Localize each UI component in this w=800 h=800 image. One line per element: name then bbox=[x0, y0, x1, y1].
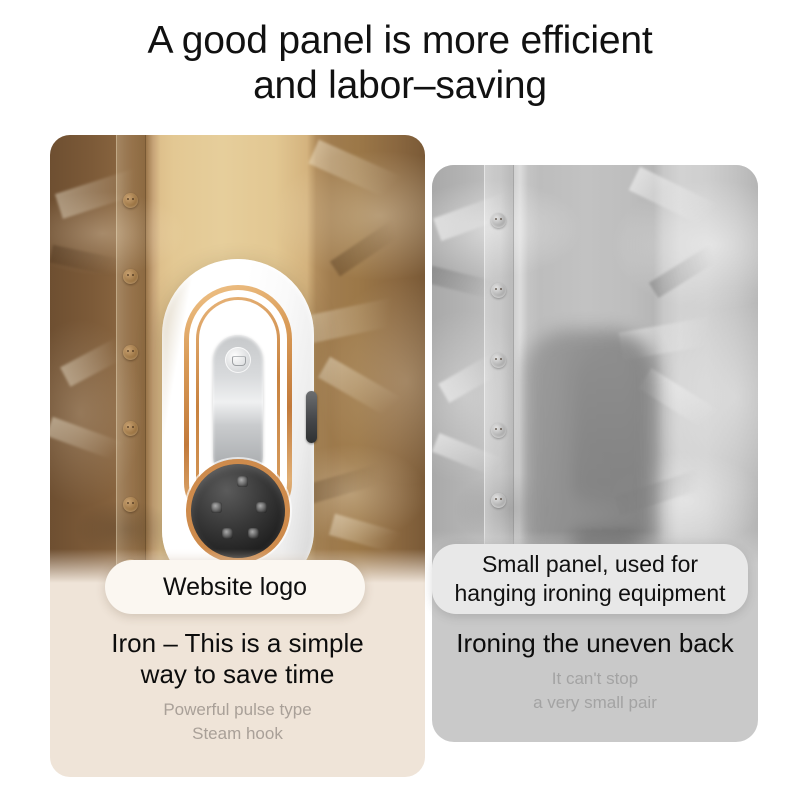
shirt-placket bbox=[484, 165, 514, 565]
shirt-button-icon bbox=[123, 497, 138, 512]
right-card-subtitle: It can't stop a very small pair bbox=[432, 667, 758, 715]
shirt-placket bbox=[116, 135, 146, 583]
right-card-text-block: Ironing the uneven back It can't stop a … bbox=[432, 628, 758, 715]
left-card-title: Iron – This is a simple way to save time bbox=[50, 628, 425, 690]
right-card-note-line-2: hanging ironing equipment bbox=[454, 579, 725, 608]
left-product-photo bbox=[50, 135, 425, 583]
shirt-button-icon bbox=[123, 269, 138, 284]
shirt-button-icon bbox=[491, 423, 506, 438]
left-card-subtitle-line-1: Powerful pulse type bbox=[50, 698, 425, 722]
garment-steamer-device bbox=[162, 259, 314, 583]
right-card-subtitle-line-2: a very small pair bbox=[432, 691, 758, 715]
right-card-note-line-1: Small panel, used for bbox=[454, 550, 725, 579]
left-product-card[interactable]: Iron – This is a simple way to save time… bbox=[50, 135, 425, 777]
steam-hole-icon bbox=[248, 528, 259, 539]
shirt-button-icon bbox=[123, 421, 138, 436]
website-logo-badge[interactable]: Website logo bbox=[105, 560, 365, 614]
left-card-subtitle: Powerful pulse type Steam hook bbox=[50, 698, 425, 746]
shirt-button-icon bbox=[491, 493, 506, 508]
right-product-card[interactable]: Ironing the uneven back It can't stop a … bbox=[432, 165, 758, 742]
left-card-subtitle-line-2: Steam hook bbox=[50, 722, 425, 746]
blurred-steamer-device bbox=[520, 330, 670, 565]
shirt-button-icon bbox=[123, 345, 138, 360]
steam-hole-icon bbox=[222, 528, 233, 539]
steamer-soleplate bbox=[186, 459, 290, 563]
left-card-title-line-1: Iron – This is a simple bbox=[50, 628, 425, 659]
right-card-title: Ironing the uneven back bbox=[432, 628, 758, 659]
website-logo-badge-label: Website logo bbox=[163, 573, 307, 602]
steamer-side-button bbox=[306, 391, 317, 443]
steam-button-icon bbox=[225, 347, 251, 373]
product-comparison-page: A good panel is more efficient and labor… bbox=[0, 0, 800, 800]
right-card-note-badge[interactable]: Small panel, used for hanging ironing eq… bbox=[432, 544, 748, 614]
shirt-button-icon bbox=[491, 213, 506, 228]
blurred-steamer-inner bbox=[572, 348, 634, 498]
right-card-title-line-1: Ironing the uneven back bbox=[432, 628, 758, 659]
shirt-button-icon bbox=[491, 283, 506, 298]
steam-hole-icon bbox=[211, 502, 222, 513]
right-card-subtitle-line-1: It can't stop bbox=[432, 667, 758, 691]
comparison-cards: Iron – This is a simple way to save time… bbox=[0, 0, 800, 800]
shirt-button-icon bbox=[123, 193, 138, 208]
steam-hole-icon bbox=[237, 476, 248, 487]
right-product-photo bbox=[432, 165, 758, 565]
left-card-title-line-2: way to save time bbox=[50, 659, 425, 690]
left-card-text-block: Iron – This is a simple way to save time… bbox=[50, 628, 425, 746]
shirt-button-icon bbox=[491, 353, 506, 368]
steam-hole-icon bbox=[256, 502, 267, 513]
